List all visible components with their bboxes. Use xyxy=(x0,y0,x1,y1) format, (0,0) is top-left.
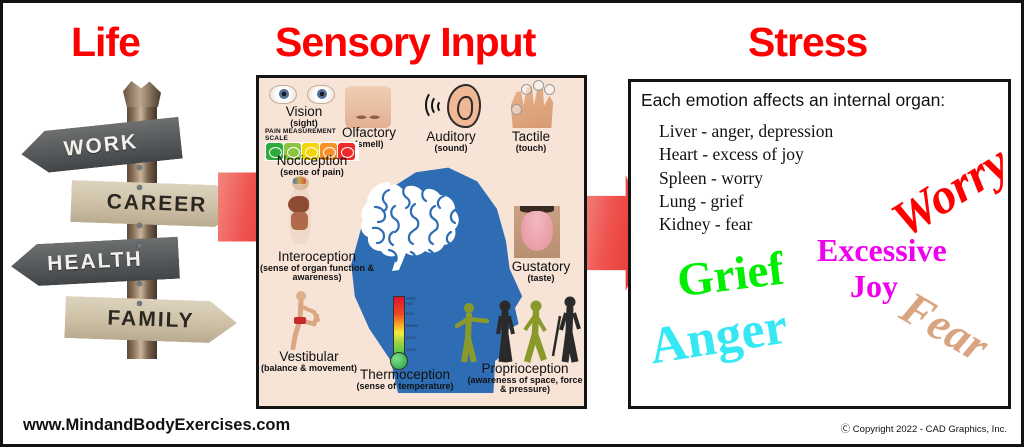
sense-label-thermoception: Thermoception (sense of temperature) xyxy=(349,368,461,391)
thermo-label-cool: COOL xyxy=(406,336,417,340)
silhouette-with-pole-icon xyxy=(551,296,585,364)
signpost-illustration: WORK CAREER HEALTH FAMILY xyxy=(19,91,239,361)
emotion-word-joy: Joy xyxy=(850,268,898,305)
sense-label-vision: Vision (sight) xyxy=(263,105,345,128)
website-url: www.MindandBodyExercises.com xyxy=(23,416,290,435)
emotion-word-excessive: Excessive xyxy=(817,232,947,269)
stress-panel-title: Each emotion affects an internal organ: xyxy=(641,90,945,111)
sign-label: CAREER xyxy=(106,190,207,217)
ear-icon xyxy=(447,84,481,128)
screw-icon xyxy=(137,165,142,170)
sense-label-vestibular: Vestibular (balance & movement) xyxy=(259,350,359,373)
touch-dot-icon xyxy=(521,84,532,95)
copyright-notice: Ⓒ Copyright 2022 - CAD Graphics, Inc. xyxy=(841,421,1007,435)
thermometer-stem xyxy=(393,296,405,360)
screw-icon xyxy=(137,185,142,190)
thermo-label-very: VERY xyxy=(406,297,416,301)
signpost-sign-family: FAMILY xyxy=(64,296,237,344)
sign-label: HEALTH xyxy=(47,248,144,277)
signpost-sign-health: HEALTH xyxy=(10,237,180,288)
tongue-icon xyxy=(514,206,560,258)
screw-icon xyxy=(137,243,142,248)
sense-label-interoception: Interoception (sense of organ function &… xyxy=(259,250,375,282)
organ-list-item: Spleen - worry xyxy=(659,167,833,190)
thermo-label-cold: COLD xyxy=(406,348,417,352)
silhouette-standing-icon xyxy=(491,300,519,364)
sense-label-tactile: Tactile (touch) xyxy=(494,130,568,153)
screw-icon xyxy=(137,281,142,286)
emotion-word-fear: Fear xyxy=(892,281,998,373)
screw-icon xyxy=(137,301,142,306)
screw-icon xyxy=(137,223,142,228)
sign-label: WORK xyxy=(63,130,140,162)
organ-list-item: Lung - grief xyxy=(659,190,833,213)
thermo-label-hot2: HOT xyxy=(406,302,414,306)
pain-scale-caption: PAIN MEASUREMENT SCALE xyxy=(265,128,359,142)
sense-label-proprioception: Proprioception (awareness of space, forc… xyxy=(465,362,585,394)
organ-list-item: Heart - excess of joy xyxy=(659,143,833,166)
organ-emotion-list: Liver - anger, depression Heart - excess… xyxy=(659,120,833,236)
touch-dot-icon xyxy=(533,80,544,91)
touch-dot-icon xyxy=(544,84,555,95)
sense-label-gustatory: Gustatory (taste) xyxy=(497,260,585,283)
brain-icon xyxy=(359,176,477,272)
silhouette-pointing-icon xyxy=(455,302,489,364)
nose-icon xyxy=(345,86,391,128)
silhouette-walking-icon xyxy=(521,300,551,364)
thermometer-icon: VERY HOT HOT WARM COOL COLD xyxy=(390,296,406,374)
eye-icon xyxy=(269,85,297,104)
infographic-page: Life Sensory Input Stress WORK CAREER HE… xyxy=(0,0,1024,447)
emotion-word-anger: Anger xyxy=(645,297,791,377)
gut-shape xyxy=(291,212,308,230)
heading-life: Life xyxy=(71,19,140,66)
stress-panel: Each emotion affects an internal organ: … xyxy=(628,79,1011,409)
sound-wave-icon xyxy=(437,100,447,113)
organ-list-item: Kidney - fear xyxy=(659,213,833,236)
thermo-label-hot: HOT xyxy=(406,312,414,316)
head-shape xyxy=(292,176,309,190)
eye-icon xyxy=(307,85,335,104)
organ-list-item: Liver - anger, depression xyxy=(659,120,833,143)
internal-organs-icon xyxy=(281,176,319,248)
yoga-balance-figure-icon xyxy=(281,290,325,350)
sensory-input-panel: Vision (sight) Olfactory (smell) Auditor… xyxy=(256,75,587,409)
sense-label-nociception: Nociception (sense of pain) xyxy=(259,154,365,177)
liver-shape xyxy=(288,196,309,213)
heading-sensory-input: Sensory Input xyxy=(275,19,535,66)
touch-dot-icon xyxy=(511,104,522,115)
sense-label-auditory: Auditory (sound) xyxy=(411,130,491,153)
signpost-sign-career: CAREER xyxy=(70,180,243,228)
sign-label: FAMILY xyxy=(107,306,195,333)
thermo-label-warm: WARM xyxy=(406,324,418,328)
signpost-sign-work: WORK xyxy=(19,117,183,175)
heading-stress: Stress xyxy=(748,19,867,66)
